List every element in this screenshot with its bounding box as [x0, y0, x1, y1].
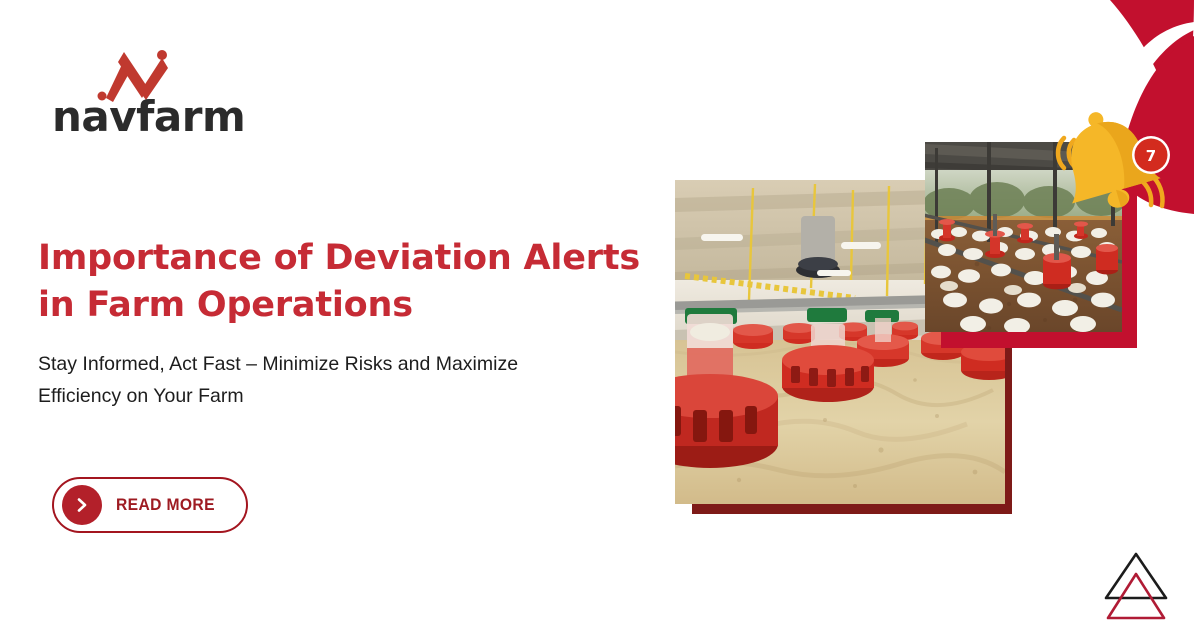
notification-badge: 7 — [1132, 136, 1170, 174]
page-title: Importance of Deviation Alerts in Farm O… — [38, 235, 658, 329]
read-more-button[interactable]: READ MORE — [52, 477, 248, 533]
triangle-watermark-icon — [1096, 548, 1176, 626]
brand-logo[interactable]: navfarm — [52, 48, 272, 148]
brand-wordmark: navfarm — [52, 94, 272, 140]
page-subtitle: Stay Informed, Act Fast – Minimize Risks… — [38, 348, 598, 412]
read-more-label: READ MORE — [116, 495, 215, 515]
notification-badge-count: 7 — [1146, 147, 1156, 165]
chevron-right-icon — [62, 485, 102, 525]
broiler-flock-photo — [925, 142, 1122, 332]
bell-wave-right-icon — [1141, 174, 1163, 206]
banner-canvas: navfarm Importance of Deviation Alerts i… — [0, 0, 1194, 644]
